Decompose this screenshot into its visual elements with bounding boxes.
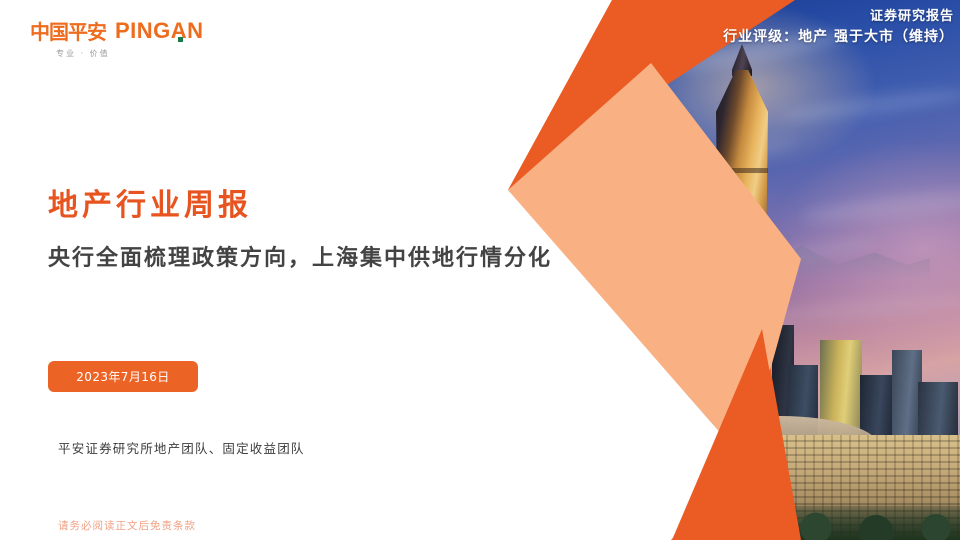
cover-photo-skyline xyxy=(660,0,960,540)
page-subtitle: 央行全面梳理政策方向，上海集中供地行情分化 xyxy=(48,240,552,272)
report-type-label: 证券研究报告 xyxy=(723,8,954,27)
logo-green-accent-icon xyxy=(178,37,183,42)
presentation-cover-slide: 中国平安 PINGAN 专业 · 价值 证券研究报告 行业评级：地产 强于大市（… xyxy=(0,0,960,540)
page-title: 地产行业周报 xyxy=(48,180,252,224)
logo-tagline: 专业 · 价值 xyxy=(56,48,210,59)
city-skyline xyxy=(660,270,960,540)
pingan-logo[interactable]: 中国平安 PINGAN 专业 · 价值 xyxy=(30,16,210,60)
author-team-label: 平安证券研究所地产团队、固定收益团队 xyxy=(58,438,305,457)
header-meta: 证券研究报告 行业评级：地产 强于大市（维持） xyxy=(723,8,954,47)
logo-latin-text: PINGAN xyxy=(115,18,204,43)
logo-latin-wordmark: PINGAN xyxy=(115,18,204,44)
industry-rating-label: 行业评级：地产 强于大市（维持） xyxy=(723,27,954,47)
tree-line xyxy=(660,506,960,540)
logo-chinese-wordmark: 中国平安 xyxy=(30,16,106,45)
disclaimer-note: 请务必阅读正文后免责条款 xyxy=(58,518,196,533)
ping-an-finance-center-tower xyxy=(716,70,768,450)
tower-band xyxy=(716,308,768,313)
logo-lockup: 中国平安 PINGAN xyxy=(30,16,210,45)
publication-date-badge: 2023年7月16日 xyxy=(48,361,198,392)
tower-band xyxy=(716,168,768,173)
tower-band xyxy=(716,238,768,243)
